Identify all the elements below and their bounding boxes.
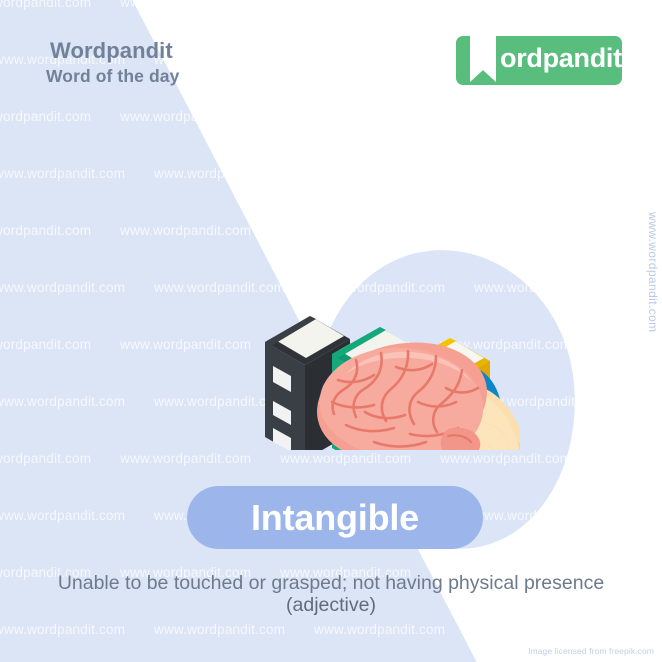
header: Wordpandit Word of the day <box>50 38 179 87</box>
watermark-vertical: www.wordpandit.com <box>646 212 660 333</box>
wordpandit-logo[interactable]: ordpandit <box>456 36 622 85</box>
image-credit: Image licensed from freepik.com <box>528 646 654 656</box>
page-title: Wordpandit <box>50 38 179 63</box>
logo-label: ordpandit <box>500 45 622 72</box>
word-of-the-day-card: www.wordpandit.comwww.wordpandit.comwww.… <box>0 0 662 662</box>
bookmark-icon <box>470 28 496 82</box>
part-of-speech: (adjective) <box>0 594 662 617</box>
books-hand-brain-illustration <box>160 170 520 450</box>
page-subtitle: Word of the day <box>46 66 179 87</box>
word-term: Intangible <box>251 497 419 539</box>
word-badge: Intangible <box>187 486 483 549</box>
